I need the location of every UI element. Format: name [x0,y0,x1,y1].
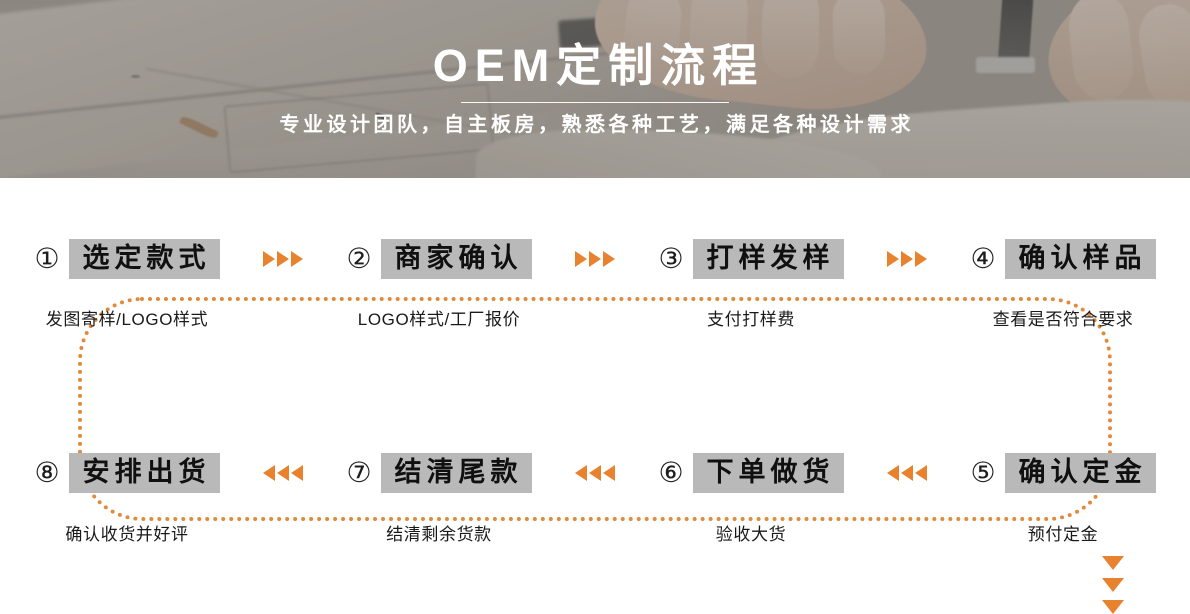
flow-row-2-descriptions: 确认收货并好评 结清剩余货款 验收大货 预付定金 [0,520,1190,544]
title-divider [461,102,729,103]
flow-step-2[interactable]: ② 商家确认 [312,239,566,279]
chevron-left-icon [589,465,601,481]
flow-row-2-steps: ⑧ 安排出货 ⑦ 结清尾款 [0,450,1190,496]
chevron-left-icon [603,465,615,481]
downward-connector-arrows [1100,556,1126,614]
step-description: LOGO样式/工厂报价 [358,305,520,330]
chevron-left-icon [263,465,275,481]
step-label: 确认定金 [1005,453,1156,493]
chevron-right-icon [263,251,275,267]
arrow-right-group [263,251,303,267]
chevron-down-icon [1102,578,1124,592]
step-number: ⑦ [346,459,371,487]
step-7-desc-cell: 结清剩余货款 [312,520,566,545]
step-description: 发图寄样/LOGO样式 [46,305,208,330]
chevron-left-icon [887,465,899,481]
oem-process-page: OEM定制流程 专业设计团队，自主板房，熟悉各种工艺，满足各种设计需求 ① 选定… [0,0,1190,600]
step-number: ⑧ [34,459,59,487]
chevron-right-icon [603,251,615,267]
step-5-desc-cell: 预付定金 [936,520,1190,545]
page-title: OEM定制流程 [426,43,765,88]
step-number: ⑤ [970,459,995,487]
step-4-desc-cell: 查看是否符合要求 [936,305,1190,330]
step-description: 验收大货 [716,520,786,545]
banner-text-block: OEM定制流程 专业设计团队，自主板房，熟悉各种工艺，满足各种设计需求 [0,0,1190,178]
chevron-right-icon [901,251,913,267]
chevron-right-icon [291,251,303,267]
chevron-left-icon [575,465,587,481]
chevron-right-icon [575,251,587,267]
flow-step-3[interactable]: ③ 打样发样 [624,239,878,279]
chevron-left-icon [901,465,913,481]
flow-step-7[interactable]: ⑦ 结清尾款 [312,453,566,493]
step-description: 结清剩余货款 [386,520,492,545]
step-label: 打样发样 [693,239,844,279]
flow-row-1-steps: ① 选定款式 ② 商家确认 [0,236,1190,282]
flow-step-4[interactable]: ④ 确认样品 [936,239,1190,279]
chevron-left-icon [915,465,927,481]
step-label: 结清尾款 [381,453,532,493]
step-3-desc-cell: 支付打样费 [624,305,878,330]
chevron-down-icon [1102,556,1124,570]
chevron-right-icon [887,251,899,267]
step-label: 安排出货 [69,453,220,493]
arrow-right-group [575,251,615,267]
chevron-right-icon [915,251,927,267]
step-number: ② [346,245,371,273]
arrow-left-group [263,465,303,481]
flow-step-5[interactable]: ⑤ 确认定金 [936,453,1190,493]
step-label: 选定款式 [69,239,220,279]
step-2-desc-cell: LOGO样式/工厂报价 [312,305,566,330]
step-description: 预付定金 [1028,520,1098,545]
step-label: 下单做货 [693,453,844,493]
chevron-right-icon [589,251,601,267]
header-banner: OEM定制流程 专业设计团队，自主板房，熟悉各种工艺，满足各种设计需求 [0,0,1190,178]
step-8-desc-cell: 确认收货并好评 [0,520,254,545]
step-6-desc-cell: 验收大货 [624,520,878,545]
step-number: ④ [970,245,995,273]
step-1-desc-cell: 发图寄样/LOGO样式 [0,305,254,330]
arrow-right-group [887,251,927,267]
flow-step-8[interactable]: ⑧ 安排出货 [0,453,254,493]
step-description: 支付打样费 [707,305,795,330]
arrow-left-group [887,465,927,481]
chevron-down-icon [1102,600,1124,614]
step-description: 查看是否符合要求 [993,305,1134,330]
step-label: 确认样品 [1005,239,1156,279]
step-label: 商家确认 [381,239,532,279]
step-number: ③ [658,245,683,273]
flow-row-1-descriptions: 发图寄样/LOGO样式 LOGO样式/工厂报价 支付打样费 查看是否符合要求 [0,305,1190,329]
chevron-left-icon [291,465,303,481]
page-subtitle: 专业设计团队，自主板房，熟悉各种工艺，满足各种设计需求 [276,115,914,135]
step-number: ⑥ [658,459,683,487]
chevron-right-icon [277,251,289,267]
step-description: 确认收货并好评 [65,520,188,545]
process-flow: ① 选定款式 ② 商家确认 [0,178,1190,600]
step-number: ① [34,245,59,273]
flow-step-6[interactable]: ⑥ 下单做货 [624,453,878,493]
flow-step-1[interactable]: ① 选定款式 [0,239,254,279]
chevron-left-icon [277,465,289,481]
arrow-left-group [575,465,615,481]
